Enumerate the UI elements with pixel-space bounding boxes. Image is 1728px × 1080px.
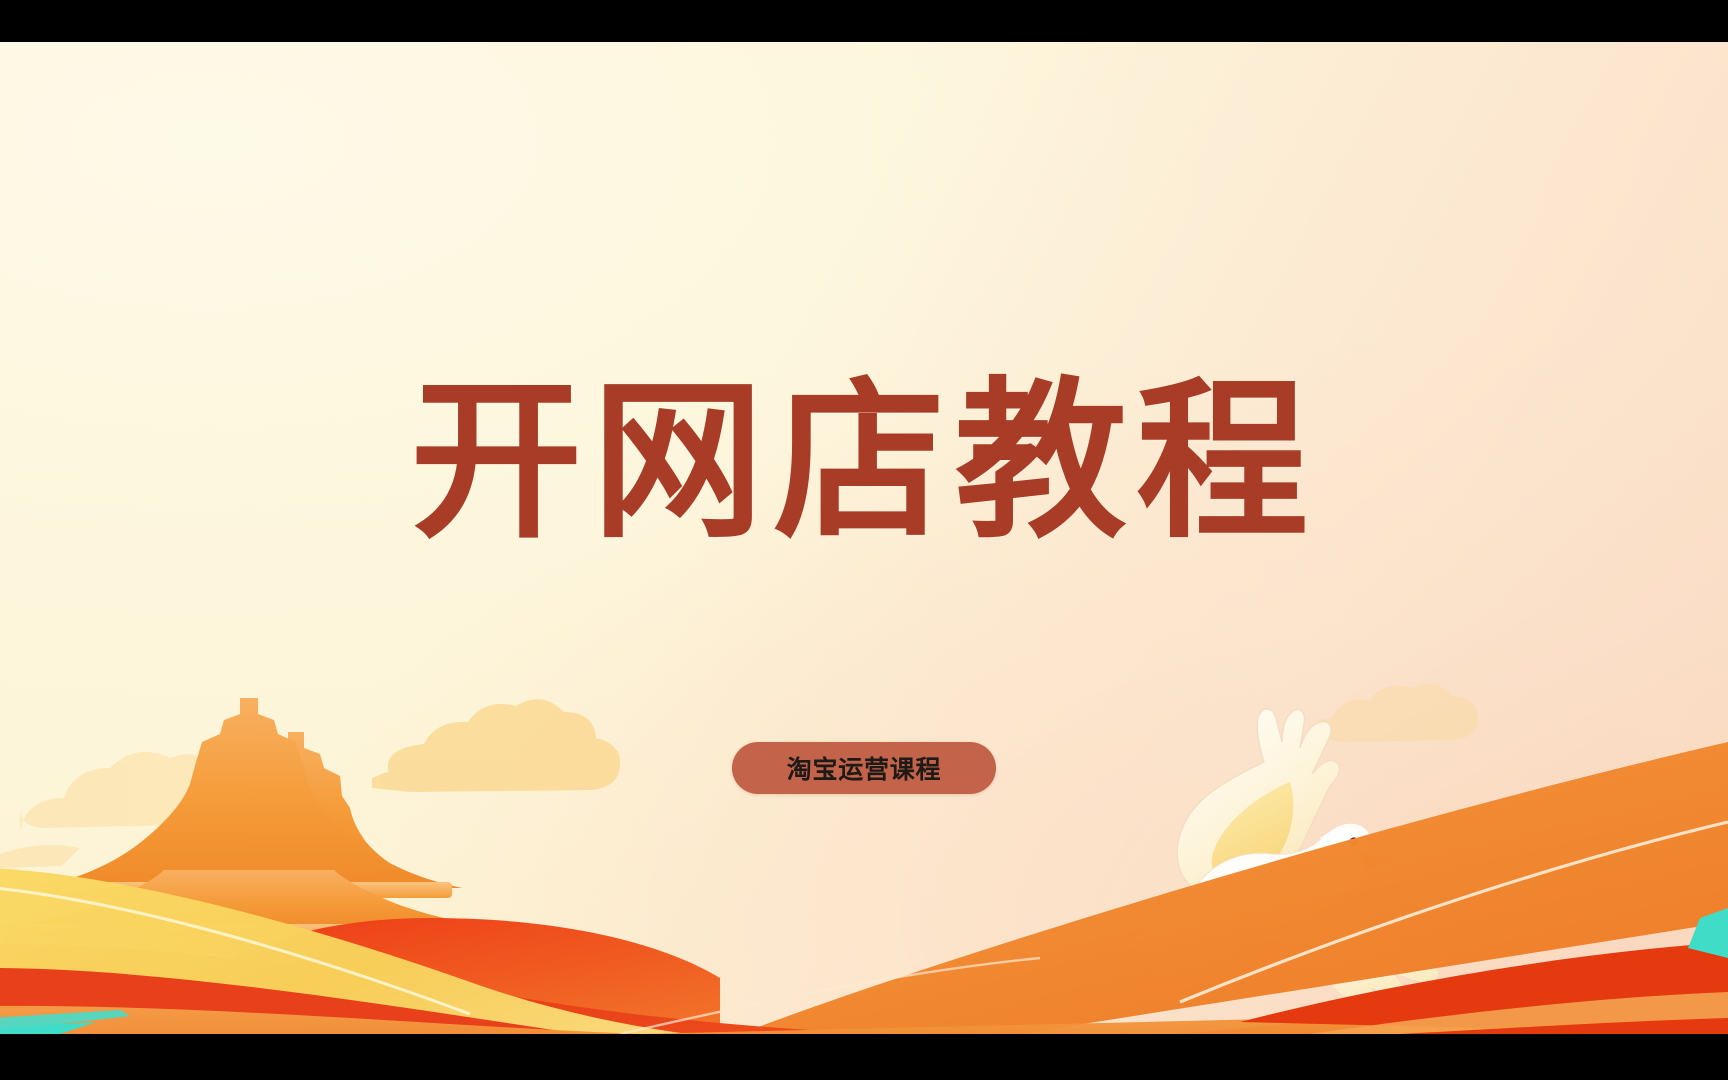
slide-screen: 开网店教程 淘宝运营课程 — [0, 0, 1728, 1080]
decorative-artwork — [0, 42, 1728, 1034]
letterbox-top — [0, 0, 1728, 42]
slide-canvas: 开网店教程 淘宝运营课程 — [0, 42, 1728, 1034]
subtitle-badge: 淘宝运营课程 — [732, 742, 996, 794]
letterbox-bottom — [0, 1034, 1728, 1080]
subtitle-badge-label: 淘宝运营课程 — [787, 750, 942, 786]
